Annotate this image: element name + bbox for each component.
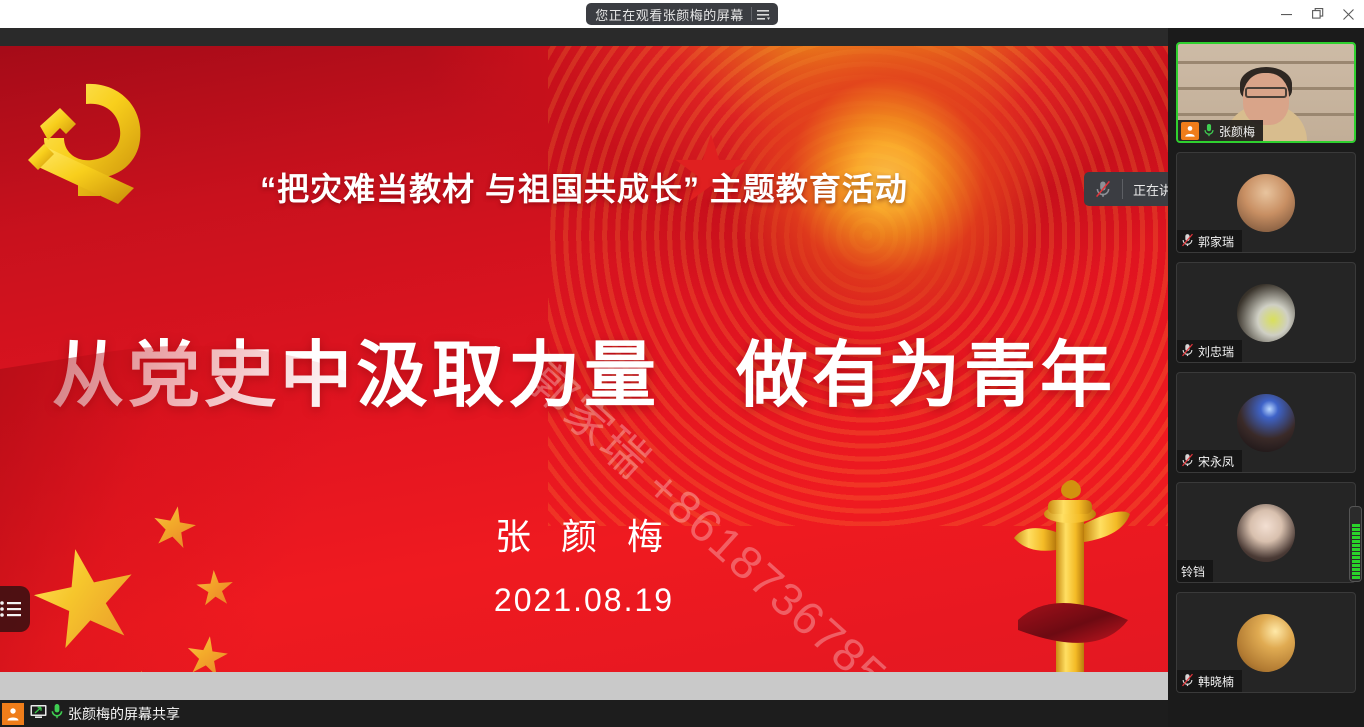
video-person-head [1243,73,1289,125]
mic-muted-icon [1181,343,1194,360]
audio-level-segment [1352,528,1360,531]
meeting-window: 您正在观看张颜梅的屏幕 [0,0,1364,727]
mic-muted-icon [1181,453,1194,470]
audio-level-meter [1349,506,1362,582]
avatar [1237,284,1295,342]
participant-tile[interactable]: 韩晓楠 [1176,592,1356,693]
avatar [1237,504,1295,562]
participant-tile[interactable]: 宋永凤 [1176,372,1356,473]
participant-tile[interactable]: 张颜梅 [1176,42,1356,143]
audio-level-segment [1352,548,1360,551]
participant-label: 张颜梅 [1177,120,1263,142]
avatar [1237,174,1295,232]
shared-screen-stage[interactable]: “把灾难当教材 与祖国共成长” 主题教育活动 从党史中汲取力量 做有为青年 张 … [0,28,1168,727]
mic-muted-icon[interactable] [1084,180,1122,198]
audio-level-segment [1352,568,1360,571]
speaking-status-text: 正在讲话: 张颜梅; [1123,180,1168,199]
audio-level-segment [1352,564,1360,567]
participant-label: 韩晓楠 [1177,670,1242,692]
audio-level-segment [1352,576,1360,579]
avatar [1237,614,1295,672]
participant-label: 刘忠瑞 [1177,340,1242,362]
audio-level-segment [1352,572,1360,575]
title-bar: 您正在观看张颜梅的屏幕 [0,0,1364,28]
audio-level-segment [1352,532,1360,535]
hamburger-menu-icon[interactable] [752,3,776,25]
participant-filmstrip[interactable]: 张颜梅 郭家瑞 [1168,28,1364,727]
list-icon[interactable] [0,586,30,632]
audio-level-segment [1352,536,1360,539]
screen-share-notice-pill[interactable]: 您正在观看张颜梅的屏幕 [586,3,778,25]
slide-subtitle: “把灾难当教材 与祖国共成长” 主题教育活动 [0,164,1168,210]
avatar [1237,394,1295,452]
restore-button[interactable] [1302,0,1333,28]
presentation-slide: “把灾难当教材 与祖国共成长” 主题教育活动 从党史中汲取力量 做有为青年 张 … [0,46,1168,700]
audio-level-segment [1352,524,1360,527]
mic-on-icon [1203,123,1215,140]
person-icon [1181,122,1199,140]
window-controls [1271,0,1364,28]
huabiao-column-icon [996,470,1146,700]
participant-tile[interactable]: 郭家瑞 [1176,152,1356,253]
minimize-button[interactable] [1271,0,1302,28]
participant-name: 韩晓楠 [1198,673,1234,690]
status-icon-group [30,703,64,724]
mic-muted-icon [1181,233,1194,250]
participant-name: 张颜梅 [1219,123,1255,140]
participant-tile[interactable]: 刘忠瑞 [1176,262,1356,363]
person-icon [2,703,24,725]
stage-bottom-strip [0,672,1168,700]
status-bar-text: 张颜梅的屏幕共享 [68,704,180,724]
video-person-glasses [1245,87,1287,98]
speaking-toolbar[interactable]: 正在讲话: 张颜梅; [1084,172,1168,206]
stage-top-strip [0,28,1168,46]
close-button[interactable] [1333,0,1364,28]
mic-muted-icon [1181,673,1194,690]
participant-name: 铃铛 [1181,563,1205,580]
participant-name: 郭家瑞 [1198,233,1234,250]
participant-label: 铃铛 [1177,560,1213,582]
share-notice-text: 您正在观看张颜梅的屏幕 [595,5,751,24]
status-bar: 张颜梅的屏幕共享 [0,700,1168,727]
participant-name: 宋永凤 [1198,453,1234,470]
participant-label: 宋永凤 [1177,450,1242,472]
audio-level-segment [1352,544,1360,547]
audio-level-segment [1352,552,1360,555]
audio-level-segment [1352,560,1360,563]
audio-level-segment [1352,540,1360,543]
participant-name: 刘忠瑞 [1198,343,1234,360]
participant-label: 郭家瑞 [1177,230,1242,252]
participant-tile[interactable]: 铃铛 [1176,482,1356,583]
audio-level-segment [1352,556,1360,559]
screen-share-icon[interactable] [30,704,47,724]
mic-on-icon[interactable] [50,703,64,724]
